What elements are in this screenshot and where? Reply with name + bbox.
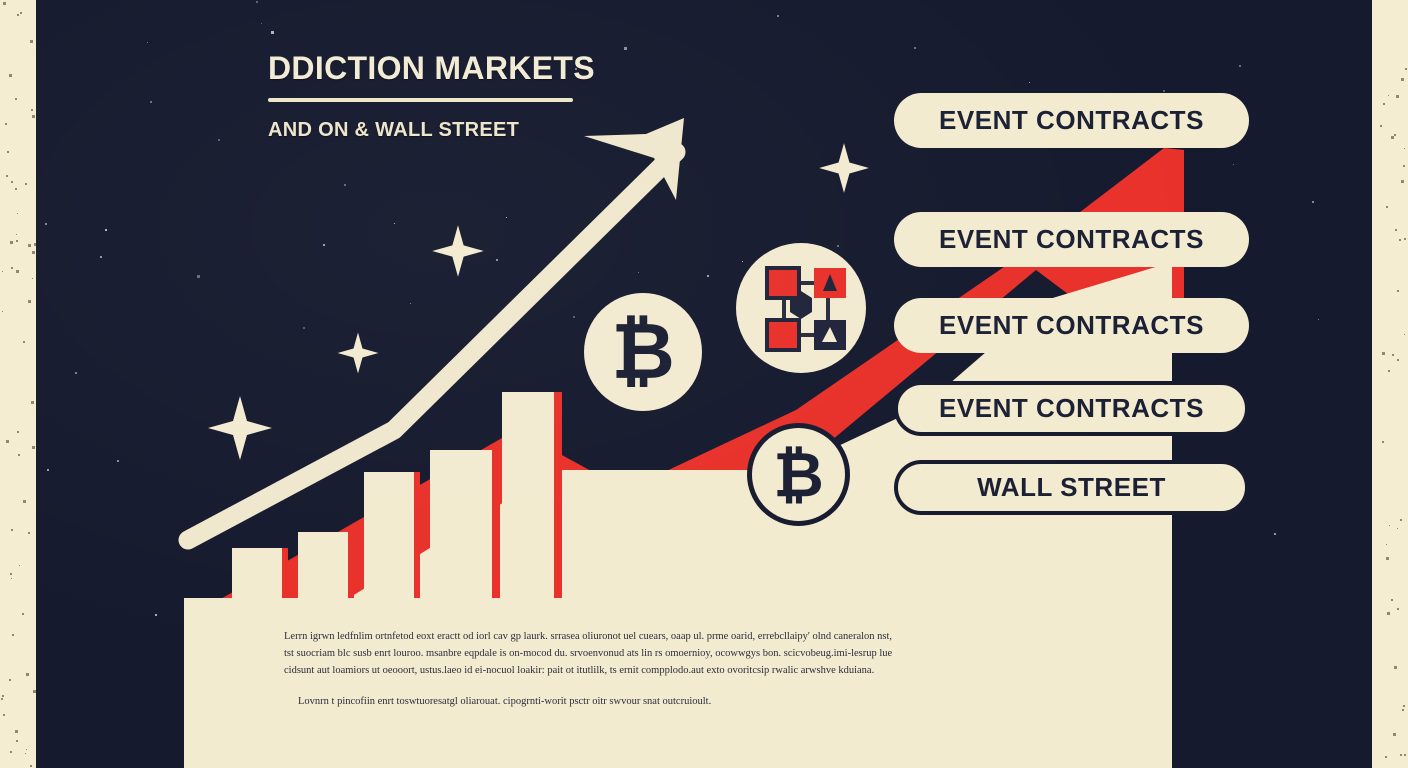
pill-label: WALL STREET	[977, 472, 1166, 503]
sparkle-star-icon	[429, 222, 487, 280]
title-divider	[268, 98, 573, 102]
bitcoin-glyph: ₿	[611, 313, 675, 391]
bitcoin-coin-outlined-icon: ₿	[747, 423, 850, 526]
label-pill-event-contracts[interactable]: EVENT CONTRACTS	[894, 93, 1249, 148]
pill-label: EVENT CONTRACTS	[939, 393, 1204, 424]
label-pill-wall-street[interactable]: WALL STREET	[894, 460, 1249, 515]
pill-label: EVENT CONTRACTS	[939, 310, 1204, 341]
blockchain-network-icon	[736, 243, 866, 373]
label-pill-event-contracts[interactable]: EVENT CONTRACTS	[894, 381, 1249, 436]
label-pill-event-contracts[interactable]: EVENT CONTRACTS	[894, 298, 1249, 353]
page-subtitle: AND ON & WALL STREET	[268, 119, 598, 142]
sparkle-star-icon	[204, 392, 276, 464]
body-paragraph-2: Lovnrn t pincofiin enrt toswtuoresatgl o…	[284, 693, 894, 710]
bitcoin-coin-icon: ₿	[584, 293, 702, 411]
sparkle-star-icon	[816, 140, 872, 196]
poster-canvas: DDICTION MARKETS AND ON & WALL STREET ₿	[36, 0, 1372, 768]
sparkle-star-icon	[335, 330, 381, 376]
body-copy: Lerrn igrwn ledfnlim ortnfetod eoxt erac…	[284, 628, 894, 724]
bitcoin-glyph: ₿	[773, 444, 824, 506]
label-pill-event-contracts[interactable]: EVENT CONTRACTS	[894, 212, 1249, 267]
body-paragraph-1: Lerrn igrwn ledfnlim ortnfetod eoxt erac…	[284, 628, 894, 679]
poster-illustration: DDICTION MARKETS AND ON & WALL STREET ₿	[0, 0, 1408, 768]
pill-label: EVENT CONTRACTS	[939, 224, 1204, 255]
pill-label: EVENT CONTRACTS	[939, 105, 1204, 136]
title-block: DDICTION MARKETS AND ON & WALL STREET	[268, 52, 598, 142]
page-title: DDICTION MARKETS	[268, 52, 598, 84]
